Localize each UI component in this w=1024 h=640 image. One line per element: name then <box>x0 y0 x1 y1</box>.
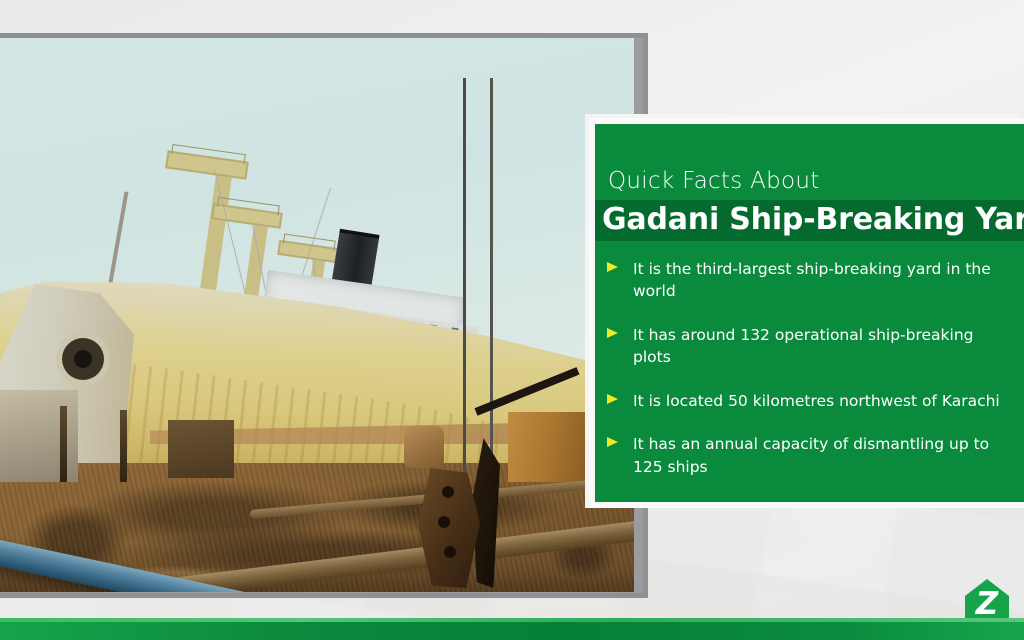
arrow-bullet-icon <box>607 437 618 447</box>
logo-letter: Z <box>975 586 999 622</box>
list-item: It has around 132 operational ship-break… <box>605 324 1010 369</box>
support-post-2 <box>120 410 127 482</box>
arrow-bullet-icon <box>607 262 618 272</box>
list-item: It is located 50 kilometres northwest of… <box>605 390 1010 412</box>
fact-text: It is located 50 kilometres northwest of… <box>633 392 1000 410</box>
panel-eyebrow: Quick Facts About <box>608 168 820 194</box>
debris-block-1 <box>168 420 234 478</box>
arrow-bullet-icon <box>607 328 618 338</box>
facts-list: It is the third-largest ship-breaking ya… <box>605 258 1010 499</box>
quick-facts-panel: Quick Facts About Gadani Ship-Breaking Y… <box>589 118 1024 508</box>
support-post-1 <box>60 406 67 482</box>
gadani-ship-breaking-yard-photo <box>0 38 634 592</box>
hawse-pipe-hole <box>74 350 92 368</box>
debris-drum <box>404 426 444 468</box>
list-item: It has an annual capacity of dismantling… <box>605 433 1010 478</box>
arrow-bullet-icon <box>607 394 618 404</box>
list-item: It is the third-largest ship-breaking ya… <box>605 258 1010 303</box>
fact-text: It has around 132 operational ship-break… <box>633 326 973 366</box>
page-title: Gadani Ship-Breaking Yard <box>602 202 1024 237</box>
slide-canvas: Quick Facts About Gadani Ship-Breaking Y… <box>0 0 1024 640</box>
fact-text: It is the third-largest ship-breaking ya… <box>633 260 991 300</box>
crane-cable-1 <box>463 78 466 478</box>
fact-text: It has an annual capacity of dismantling… <box>633 435 989 475</box>
footer-green-highlight <box>0 618 1024 622</box>
